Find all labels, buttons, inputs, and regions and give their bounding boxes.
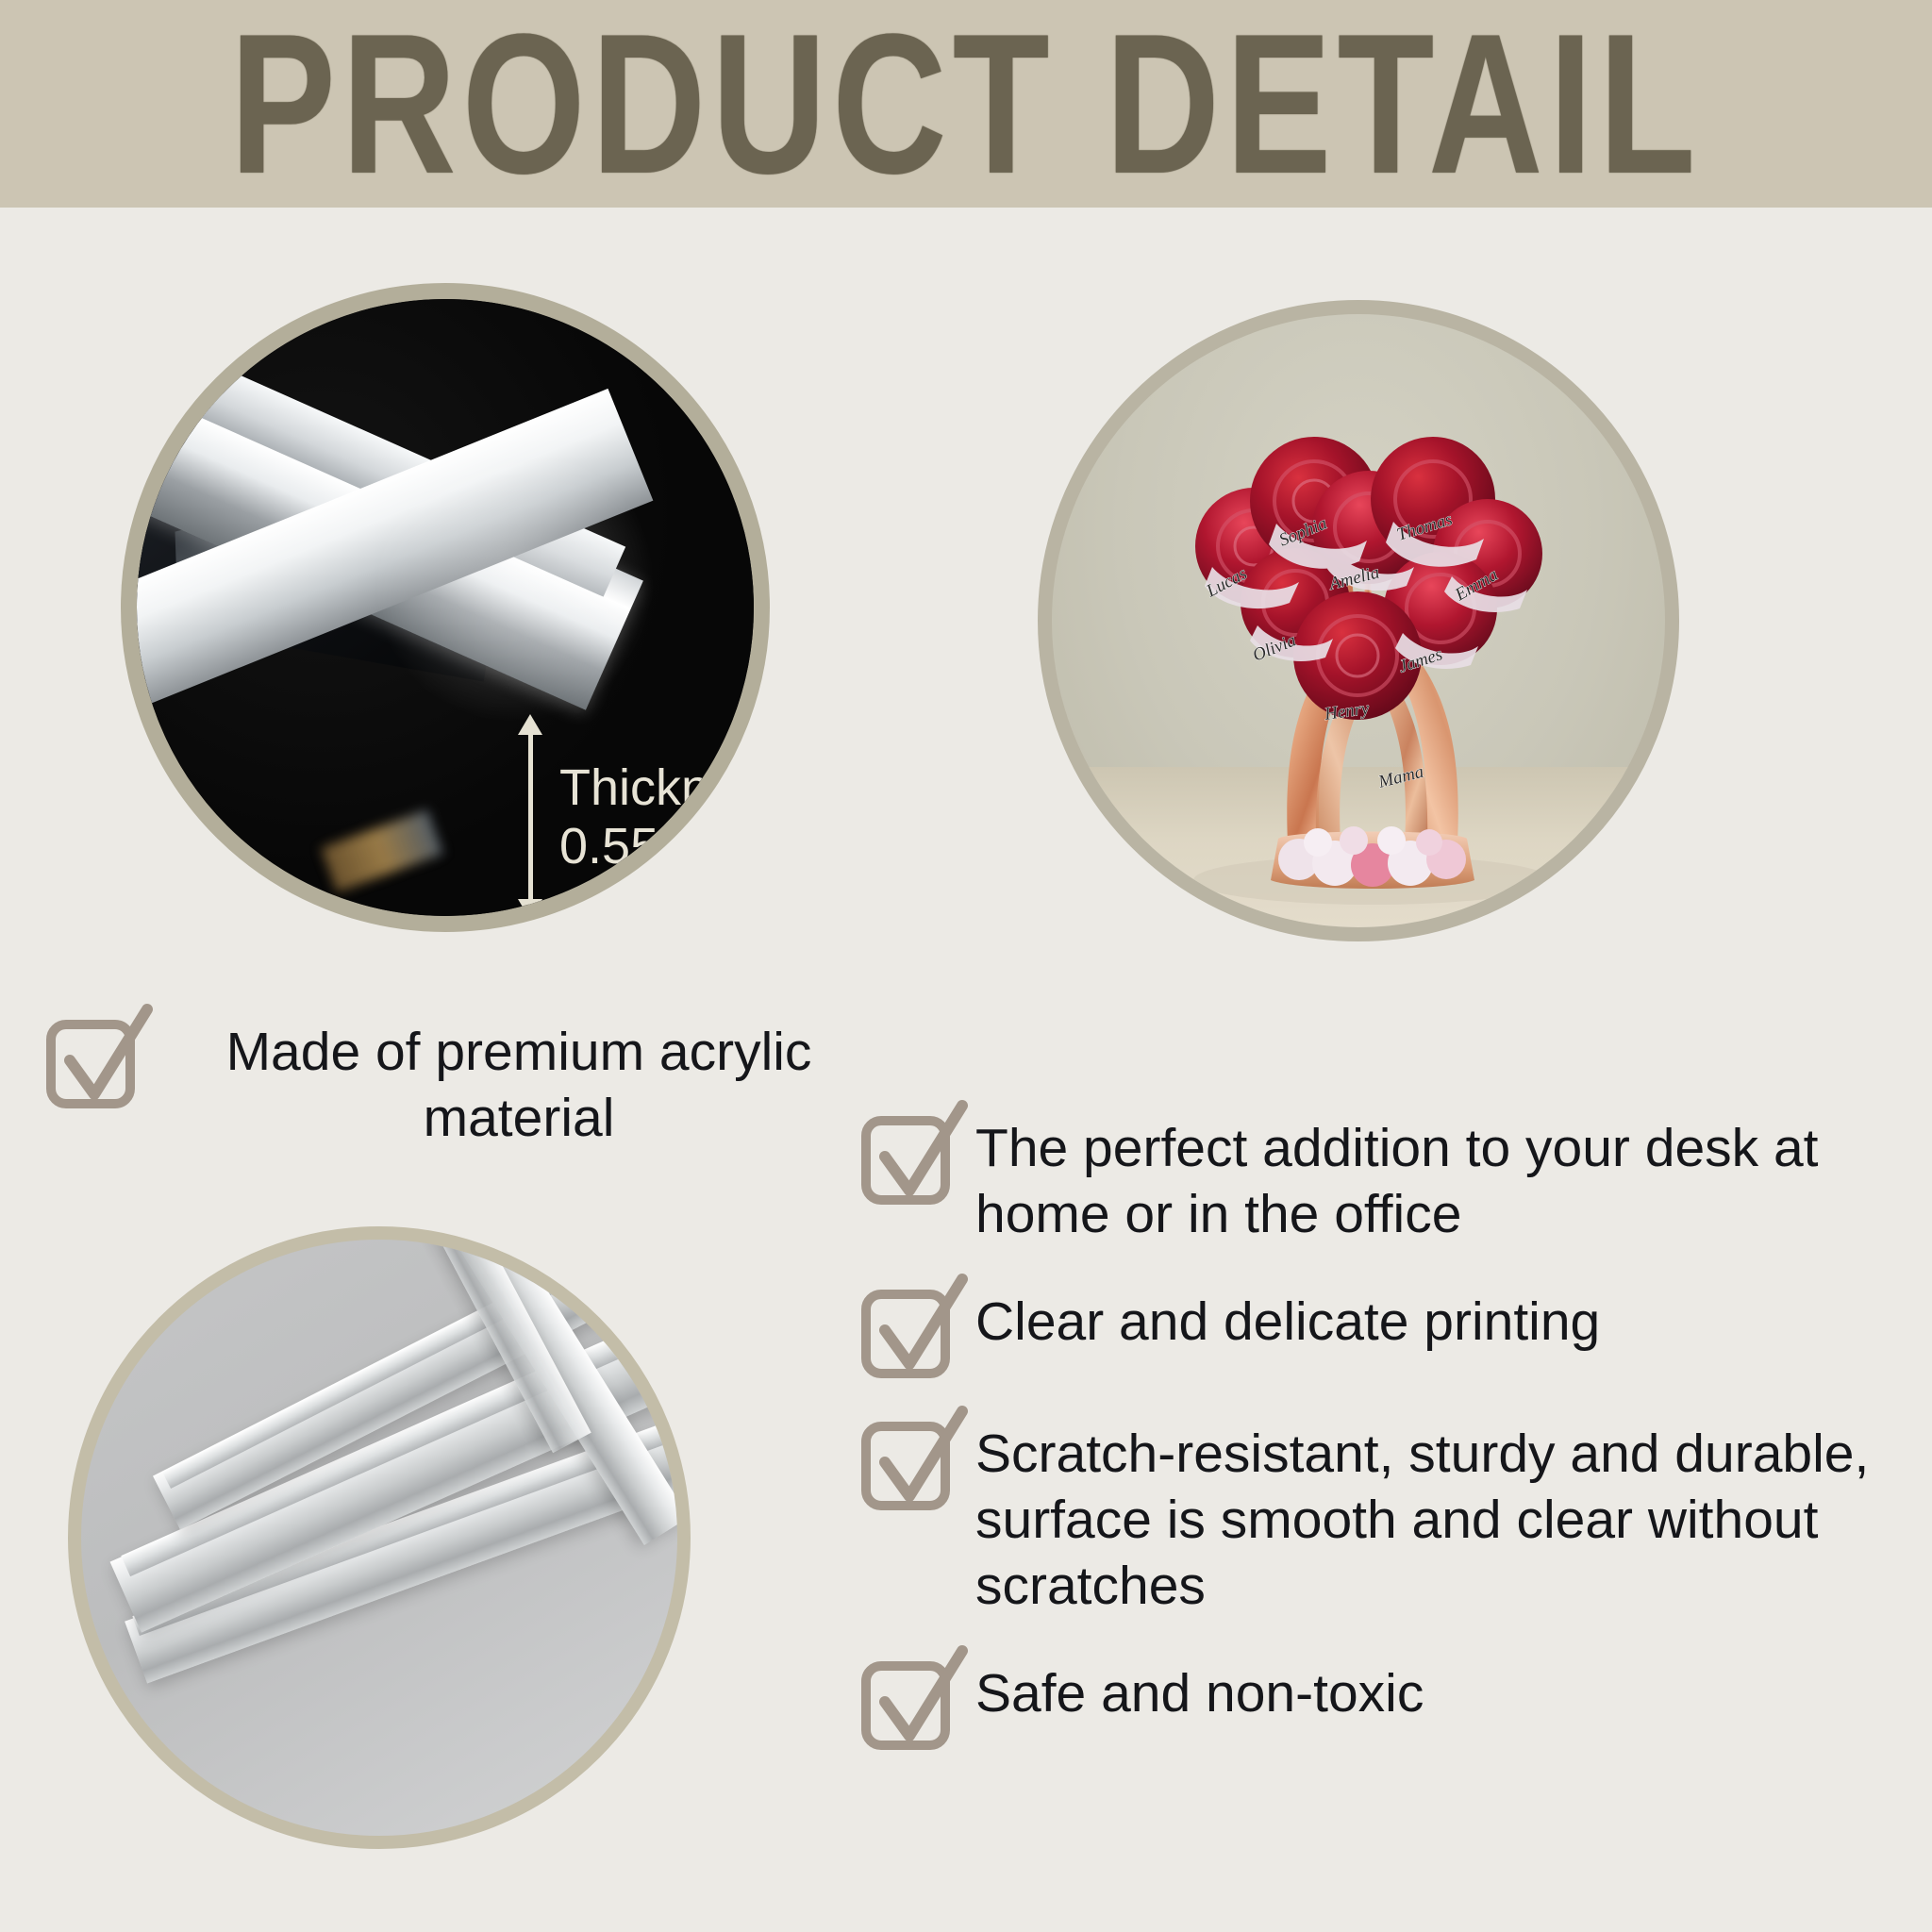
checkbox-check-icon [860, 1421, 951, 1511]
product-detail-page: PRODUCT DETAIL Thickness 0.55 in [0, 0, 1932, 1932]
product-photo-circle: Lucas Sophia Amelia Thomas Emma Olivia J… [1038, 300, 1679, 941]
thickness-callout: Thickness 0.55 in [518, 714, 770, 920]
checkbox-check-icon [860, 1660, 951, 1751]
acrylic-color-fringe [321, 809, 443, 892]
checkbox-check-icon [45, 1019, 136, 1109]
thickness-value: 0.55 in [559, 817, 770, 875]
thickness-label: Thickness [559, 758, 770, 817]
feature-item-premium-acrylic: Made of premium acrylic material [45, 1019, 894, 1151]
page-title: PRODUCT DETAIL [230, 4, 1702, 203]
feature-item-safe-non-toxic: Safe and non-toxic [860, 1660, 1917, 1751]
feature-item-scratch-resistant: Scratch-resistant, sturdy and durable, s… [860, 1421, 1917, 1619]
rose-family-tree-illustration: Lucas Sophia Amelia Thomas Emma Olivia J… [1052, 314, 1679, 941]
feature-label: Clear and delicate printing [975, 1289, 1917, 1355]
feature-label: Made of premium acrylic material [160, 1019, 877, 1151]
acrylic-glow [373, 441, 656, 724]
checkbox-check-icon [860, 1115, 951, 1206]
thickness-callout-text: Thickness 0.55 in [559, 758, 770, 875]
feature-list-right: The perfect addition to your desk at hom… [860, 1115, 1917, 1792]
acrylic-sheets-photo-circle [68, 1226, 691, 1849]
double-headed-vertical-arrow-icon [518, 714, 542, 920]
feature-label: Scratch-resistant, sturdy and durable, s… [975, 1421, 1917, 1619]
header-band: PRODUCT DETAIL [0, 0, 1932, 208]
feature-item-desk-addition: The perfect addition to your desk at hom… [860, 1115, 1917, 1247]
checkbox-check-icon [860, 1289, 951, 1379]
thickness-photo-circle: Thickness 0.55 in [121, 283, 770, 932]
feature-item-clear-printing: Clear and delicate printing [860, 1289, 1917, 1379]
feature-label: Safe and non-toxic [975, 1660, 1917, 1726]
feature-label: The perfect addition to your desk at hom… [975, 1115, 1917, 1247]
